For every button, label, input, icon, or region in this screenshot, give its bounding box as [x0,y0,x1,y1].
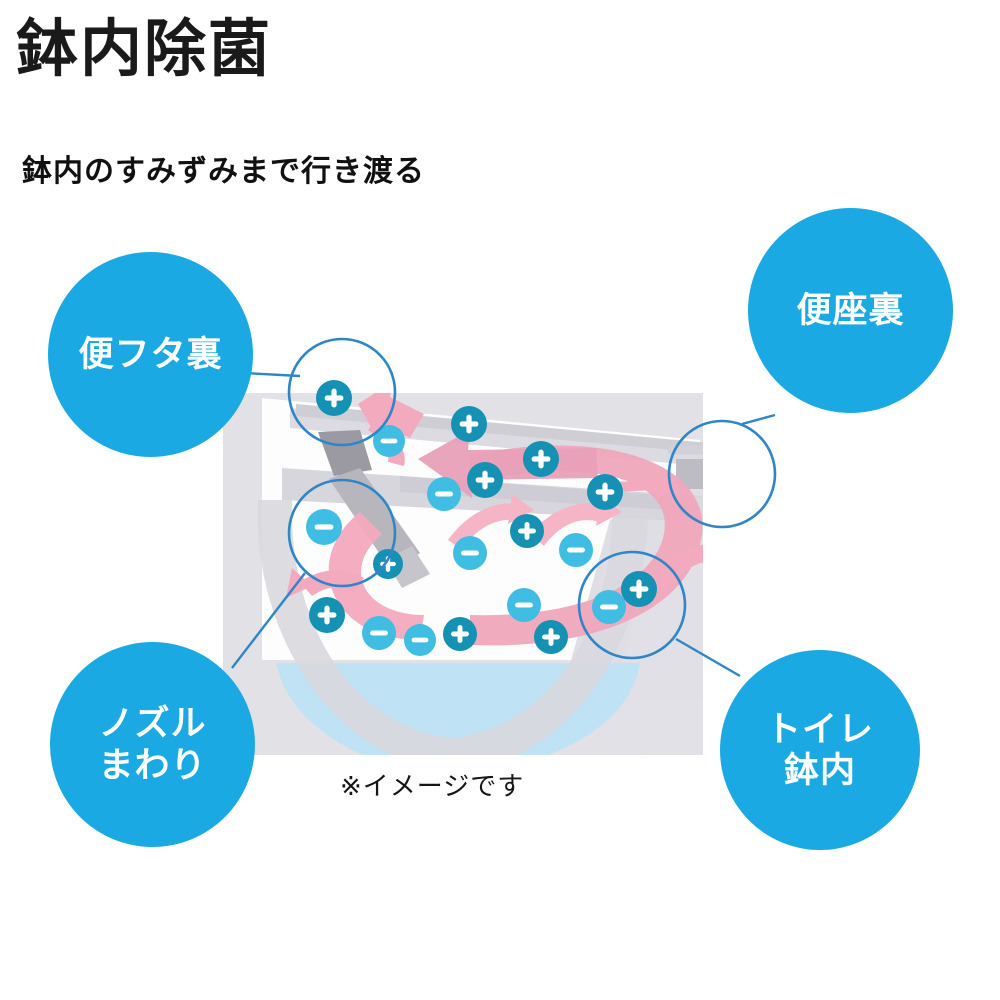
callout-bubble-seat[interactable]: 便座裏 [748,208,953,413]
ion-plus [510,514,544,548]
ion-minus [559,533,593,567]
callout-label-bowl-line1: トイレ [766,709,874,750]
image-disclaimer: ※イメージです [340,766,524,803]
toilet-diagram [0,0,1000,1000]
callout-label-lid: 便フタ裏 [78,334,222,375]
ion-plus [534,620,568,654]
ion-plus [443,617,477,651]
ion-minus [592,590,626,624]
ion-plus [373,549,403,579]
ion-minus [453,536,487,570]
callout-bubble-bowl[interactable]: トイレ 鉢内 [720,650,920,850]
seat-hinge-block [676,459,766,489]
ion-plus [451,406,487,442]
callout-bubble-nozzle[interactable]: ノズル まわり [50,642,255,847]
ion-plus [467,462,503,498]
airflow-arrow-right-lower-head [716,534,744,564]
callout-label-nozzle-line2: まわり [98,745,206,786]
callout-label-bowl-line2: 鉢内 [766,750,874,791]
infographic-canvas: 鉢内除菌 鉢内のすみずみまで行き渡る [0,0,1000,1000]
ion-plus [523,441,559,477]
ion-minus [362,616,396,650]
ion-minus [306,509,342,545]
ion-minus [427,477,461,511]
ion-minus [404,624,436,656]
ion-plus [316,380,352,416]
callout-bubble-lid[interactable]: 便フタ裏 [48,252,253,457]
ion-plus [309,597,345,633]
ion-plus [621,571,657,607]
callout-label-nozzle-line1: ノズル [98,703,206,744]
connector-seat [742,415,775,424]
ion-plus [587,474,623,510]
callout-label-seat: 便座裏 [796,290,904,331]
ion-minus [507,588,541,622]
